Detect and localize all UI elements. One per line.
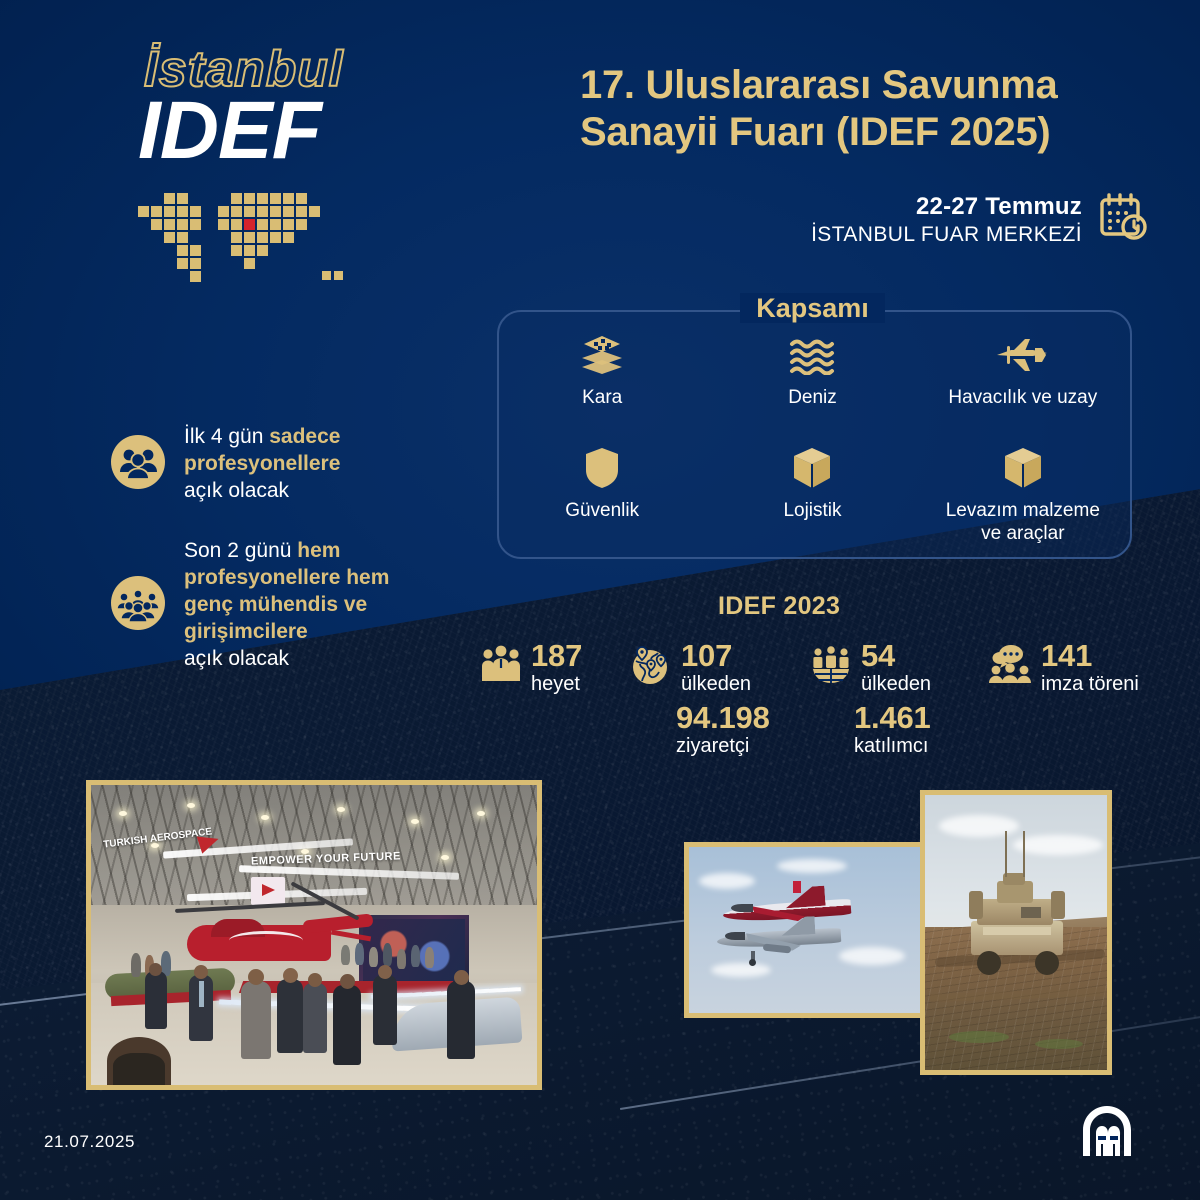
- event-date-block: 22-27 Temmuz İSTANBUL FUAR MERKEZİ: [700, 190, 1150, 249]
- stat-value: 187: [531, 640, 582, 672]
- note-line-plain: Son 2 günü: [184, 539, 297, 562]
- logo-name-text: IDEF: [138, 92, 400, 170]
- layers-icon: [579, 334, 625, 376]
- note-line-gold: girişimcilere: [184, 620, 308, 643]
- shield-icon: [584, 447, 620, 489]
- access-note-text: Son 2 günü hem profesyonellere hem genç …: [184, 538, 389, 672]
- globe-pins-icon: [628, 643, 672, 692]
- scope-item-havacilik: Havacılık ve uzay: [918, 324, 1128, 437]
- stat-value: 107: [681, 640, 751, 672]
- stat-katilimci-sub: 1.461 katılımcı: [854, 702, 931, 758]
- people-group-icon: [110, 434, 166, 495]
- box-icon: [1002, 447, 1044, 489]
- stat-value: 141: [1041, 640, 1139, 672]
- stats-row: 187 heyet: [480, 638, 1180, 768]
- crowd-icon: [110, 575, 166, 636]
- note-line-plain: açık olacak: [184, 479, 289, 502]
- access-note-text: İlk 4 gün sadece profesyonellere açık ol…: [184, 424, 340, 505]
- note-line-gold: sadece: [269, 425, 340, 448]
- stat-value: 1.461: [854, 702, 931, 734]
- scope-item-label: Deniz: [788, 386, 837, 409]
- exhibition-hall-photo: EMPOWER YOUR FUTURE TURKISH AEROSPACE: [86, 780, 542, 1090]
- scope-item-deniz: Deniz: [707, 324, 917, 437]
- scope-item-kara: Kara: [497, 324, 707, 437]
- scope-item-guvenlik: Güvenlik: [497, 437, 707, 550]
- jets-photo: [684, 842, 930, 1018]
- stat-ziyaretci-sub: 94.198 ziyaretçi: [676, 702, 770, 758]
- stat-ulkeden-ziyaretci: 107 ülkeden: [628, 640, 751, 696]
- stat-imza-toreni: 141 imza töreni: [988, 640, 1139, 696]
- note-line-plain: İlk 4 gün: [184, 425, 269, 448]
- event-venue: İSTANBUL FUAR MERKEZİ: [811, 223, 1082, 247]
- scope-item-levazim: Levazım malzeme ve araçlar: [918, 437, 1128, 550]
- scope-item-lojistik: Lojistik: [707, 437, 917, 550]
- scope-item-label: Levazım malzeme ve araçlar: [940, 499, 1105, 545]
- stats-heading: IDEF 2023: [718, 592, 840, 621]
- publish-date: 21.07.2025: [44, 1132, 135, 1152]
- box-icon: [791, 447, 833, 489]
- stat-heyet: 187 heyet: [480, 640, 582, 696]
- three-people-icon: [480, 643, 522, 690]
- stat-label: imza töreni: [1041, 673, 1139, 696]
- note-line-gold: hem: [297, 539, 340, 562]
- scope-item-label: Kara: [582, 386, 622, 409]
- waves-icon: [788, 334, 836, 376]
- note-line-gold: profesyonellere hem: [184, 566, 389, 589]
- page-title: 17. Uluslararası Savunma Sanayii Fuarı (…: [580, 62, 1150, 156]
- pixel-world-map-icon: [132, 176, 382, 286]
- scope-item-label: Güvenlik: [565, 499, 639, 522]
- scope-item-label: Lojistik: [783, 499, 841, 522]
- stat-value: 94.198: [676, 702, 770, 734]
- scope-panel-title: Kapsamı: [497, 293, 1128, 324]
- note-line-plain: açık olacak: [184, 647, 289, 670]
- calendar-clock-icon: [1096, 190, 1150, 249]
- map-marker-red: [244, 219, 255, 230]
- stat-ulkeden-katilimci: 54 ülkeden: [810, 640, 931, 696]
- stat-value: 54: [861, 640, 931, 672]
- note-line-gold: genç mühendis ve: [184, 593, 367, 616]
- scope-grid: Kara Deniz: [497, 324, 1128, 549]
- stat-label: ülkeden: [681, 673, 751, 696]
- stat-label: katılımcı: [854, 735, 931, 758]
- globe-people-icon: [810, 643, 852, 690]
- note-line-gold: profesyonellere: [184, 452, 340, 475]
- event-date: 22-27 Temmuz: [811, 193, 1082, 221]
- access-note-last-days: Son 2 günü hem profesyonellere hem genç …: [110, 538, 460, 672]
- idef-logo: İstanbul IDEF: [138, 44, 400, 286]
- fighter-jet-icon: [995, 334, 1051, 376]
- access-note-first-days: İlk 4 gün sadece profesyonellere açık ol…: [110, 424, 450, 505]
- infographic-canvas: İstanbul IDEF: [0, 0, 1200, 1200]
- stat-label: ziyaretçi: [676, 735, 770, 758]
- stat-label: heyet: [531, 673, 582, 696]
- anadolu-agency-logo: [1075, 1103, 1139, 1159]
- stat-label: ülkeden: [861, 673, 931, 696]
- scope-item-label: Havacılık ve uzay: [948, 386, 1097, 409]
- armored-vehicle-photo: [920, 790, 1112, 1075]
- people-speech-icon: [988, 643, 1032, 690]
